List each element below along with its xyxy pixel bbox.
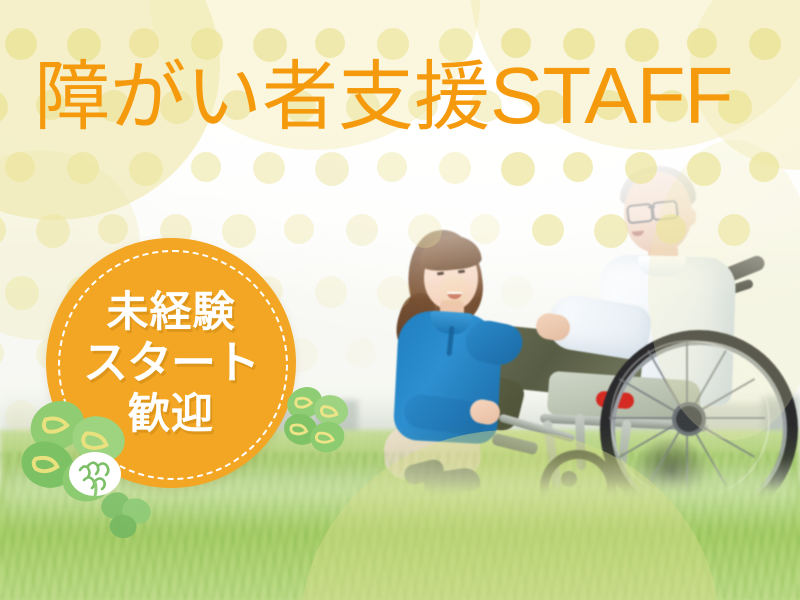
decorative-dot [0,338,4,368]
decorative-dot [129,152,163,186]
badge-line-1: 未経験 [106,288,235,336]
decorative-dot [749,152,779,182]
page-title: 障がい者支援STAFF [34,54,774,139]
badge-line-2: スタート [83,338,259,388]
decorative-dot [439,276,469,306]
decorative-dot [470,214,500,244]
recruitment-banner: 障がい者支援STAFF 未経験 スタート 歓迎 [0,0,800,600]
four-leaf-clover-icon [278,382,354,456]
decorative-dot [687,152,721,186]
white-clover-flower-icon [64,444,126,502]
decorative-dot [501,152,535,186]
decorative-dot [191,152,221,182]
decorative-dot [67,152,99,184]
decorative-dot [408,214,442,248]
headline-english: STAFF [490,51,732,140]
decorative-dot [377,152,407,182]
headline-japanese: 障がい者支援 [34,52,490,141]
decorative-dot [563,152,593,182]
decorative-dot [439,152,471,184]
decorative-dot [253,152,285,184]
decorative-dot [315,152,349,186]
decorative-dot [656,214,686,244]
decorative-dot [0,462,8,496]
decorative-dot [594,214,628,248]
decorative-dot [315,276,347,308]
decorative-dot [0,214,6,246]
decorative-dot [718,214,750,246]
decorative-dot [5,152,35,182]
badge-line-3: 歓迎 [128,390,214,438]
decorative-dot [5,28,37,60]
decorative-dot [625,152,657,184]
decorative-dot [0,90,8,124]
decorative-dot [346,338,376,368]
decorative-dot [377,276,411,310]
decorative-dot [5,276,39,310]
decorative-dot [346,214,378,246]
decorative-dot [532,214,564,246]
decorative-dot [501,276,533,308]
